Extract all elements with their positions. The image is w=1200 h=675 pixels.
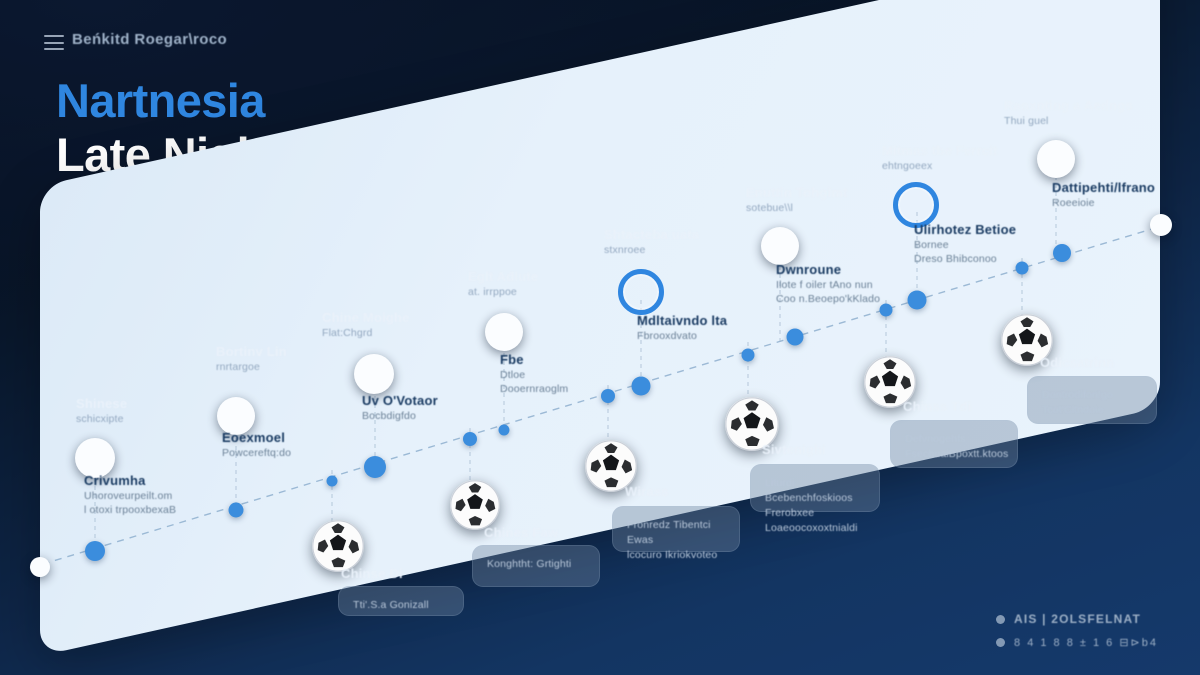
timeline-dot[interactable] [787, 329, 804, 346]
timeline-marker-white[interactable] [1037, 140, 1075, 178]
timeline-label-sub: Fbrooxdvato [637, 329, 727, 343]
timeline-dot[interactable] [364, 456, 386, 478]
soccer-ball-icon [312, 520, 364, 572]
timeline-label: Eoexmoel Powcereftq:do [222, 430, 291, 460]
timeline-dot[interactable] [463, 432, 477, 446]
ball-label-title: Chines Faw [484, 525, 558, 541]
timeline-label-title: Enuttin Tohgimt [746, 185, 848, 201]
info-card[interactable]: Defvnogehfs FsechuaiBpoxtt.ktoos [890, 420, 1018, 468]
info-card-line: Dontrodifon!go [1042, 388, 1142, 403]
timeline-marker-white[interactable] [761, 227, 799, 265]
timeline-label: Bortinv Lin rnrtargoe [216, 344, 287, 374]
footer-row: 8 4 1 8 8 ± 1 6 ⊟⊳b4 [996, 636, 1158, 649]
timeline-label-sub: Dtloe [500, 368, 568, 382]
footer-line-2: 8 4 1 8 8 ± 1 6 ⊟⊳b4 [1014, 636, 1158, 649]
timeline-dot[interactable] [229, 503, 244, 518]
info-card[interactable]: Liturdi Bcebenchfoskioos Frerobxee Loaeo… [750, 464, 880, 512]
timeline-label-title: Eglt Ađlute [468, 269, 538, 285]
timeline-label: Mitmas tbe Ferrcit ehtngoeex [882, 143, 998, 173]
timeline-label: Dattipehti/lfrano Roeeioie [1052, 180, 1155, 210]
info-card-line: Tti'.S.a Gonizall [353, 598, 449, 613]
timeline-label-title: Eoexmoel [222, 430, 291, 446]
info-card-line: Defvnogehfs [905, 432, 1003, 447]
timeline-label-title: Raoxnting a Aedngs [1004, 98, 1133, 114]
timeline-dot[interactable] [1053, 244, 1071, 262]
timeline-label: Raoxnting a Aedngs Thui guel [1004, 98, 1133, 128]
timeline-label-sub2: Dreso Bhibconoo [914, 252, 1016, 266]
ball-label-title: Chinse Đi [341, 566, 403, 582]
footer-block: AIS | 2OLSFELNAT 8 4 1 8 8 ± 1 6 ⊟⊳b4 [996, 602, 1158, 649]
info-card-line: FsechuaiBpoxtt.ktoos [905, 447, 1003, 462]
timeline-label: Fbe Dtloe Dooernraoglm [500, 352, 568, 396]
info-card-line: Liturdi Bcebenchfoskioos [765, 476, 865, 506]
timeline-dot[interactable] [85, 541, 105, 561]
timeline-dot[interactable] [601, 389, 615, 403]
timeline-dot[interactable] [1016, 262, 1029, 275]
timeline-dot[interactable] [742, 349, 755, 362]
timeline-label-sub: Bocbdigfdo [362, 409, 438, 423]
info-card[interactable]: Tti'.S.a Gonizall [338, 586, 464, 616]
info-card[interactable]: Dontrodifon!go Tcot'Citndoie [1027, 376, 1157, 424]
timeline-label-title: Crivumha [84, 473, 176, 489]
timeline-label-sub: schicxipte [76, 412, 127, 426]
timeline-label-title: Mdltaivndo lta [637, 313, 727, 329]
ball-label: Sivtenighi [762, 442, 826, 458]
timeline-label-title: Uv O'Votaor [362, 393, 438, 409]
timeline-dot[interactable] [327, 476, 338, 487]
timeline-label-sub: Thui guel [1004, 114, 1133, 128]
timeline-dot[interactable] [499, 425, 510, 436]
timeline-label-sub: Flat:Chgrd [322, 326, 410, 340]
timeline-label: Dwnroune Ilote f oiler tAno nun Coo n.Be… [776, 262, 880, 306]
info-card[interactable]: Fronredz Tibentci Ewas lcocuro Ikriokvot… [612, 506, 740, 552]
footer-bullet-icon [996, 638, 1005, 647]
footer-bullet-icon [996, 615, 1005, 624]
timeline-label: Ulirhotez Betioe Bornee Dreso Bhibconoo [914, 222, 1016, 266]
ball-label-title: Wirass [625, 484, 669, 500]
timeline-label-sub2: Dooernraoglm [500, 382, 568, 396]
timeline-label: Chine Moighe Flat:Chgrd [322, 310, 410, 340]
ball-label: Wirass [625, 484, 669, 500]
timeline-label-title: Bortinv Lin [216, 344, 287, 360]
timeline-label-sub2: Coo n.Beoepo'kKlado [776, 292, 880, 306]
footer-line-1: AIS | 2OLSFELNAT [1014, 612, 1141, 626]
info-card-line: Frerobxee Loaeoocoxoxtnialdi [765, 506, 865, 536]
timeline-label-title: Shtacteba uata [604, 227, 699, 243]
timeline-label: Shtacteba uata stxnroee [604, 227, 699, 257]
timeline-label-sub: rnrtargoe [216, 360, 287, 374]
timeline-label-sub: ehtngoeex [882, 159, 998, 173]
soccer-ball-icon [450, 480, 500, 530]
timeline-label: Eglt Ađlute at. irrppoe [468, 269, 538, 299]
info-card-line: Tcot'Citndoie [1042, 403, 1142, 418]
info-card-line: Konghtht: Grtighti [487, 557, 585, 572]
timeline-label: Mdltaivndo lta Fbrooxdvato [637, 313, 727, 343]
timeline-dot[interactable] [880, 304, 893, 317]
timeline-label-title: Dwnroune [776, 262, 880, 278]
timeline-label-sub: Ilote f oiler tAno nun [776, 278, 880, 292]
timeline-label-sub: stxnroee [604, 243, 699, 257]
timeline-label-title: Dattipehti/lfrano [1052, 180, 1155, 196]
timeline-marker-white[interactable] [75, 438, 115, 478]
info-card-line: Fronredz Tibentci Ewas [627, 518, 725, 548]
timeline-dot[interactable] [632, 377, 651, 396]
timeline-label: Uv O'Votaor Bocbdigfdo [362, 393, 438, 423]
timeline-label-title: Mitmas tbe Ferrcit [882, 143, 998, 159]
timeline-label-title: Shinese [76, 396, 127, 412]
timeline-label-sub: Uhoroveurpeilt.om [84, 489, 176, 503]
timeline-label-sub: Bornee [914, 238, 1016, 252]
timeline-label: Crivumha Uhoroveurpeilt.om l otoxi trpoo… [84, 473, 176, 517]
timeline-label-sub: Roeeioie [1052, 196, 1155, 210]
timeline-label-sub: Powcereftq:do [222, 446, 291, 460]
top-bar-left-label: Beńkitd Roegar\roco [72, 31, 227, 48]
timeline-label: Shinese schicxipte [76, 396, 127, 426]
timeline-label: Enuttin Tohgimt sotebue\\l [746, 185, 848, 215]
timeline-dot[interactable] [908, 291, 927, 310]
timeline-marker-white[interactable] [485, 313, 523, 351]
ball-label: Chinss Tđi [903, 399, 971, 415]
infographic-canvas: Beńkitd Roegar\roco ALL ⅄ Astttc Nartnes… [0, 0, 1200, 675]
timeline-marker-ring[interactable] [618, 269, 664, 315]
timeline-marker-white[interactable] [30, 557, 50, 577]
ball-label: Chines Faw [484, 525, 558, 541]
timeline-label-title: Ulirhotez Betioe [914, 222, 1016, 238]
ball-label: Chinse Đi [341, 566, 403, 582]
info-card-line: lcocuro Ikriokvoteo [627, 548, 725, 563]
timeline-label-title: Chine Moighe [322, 310, 410, 326]
ball-label: Odicsatrinn [1040, 355, 1114, 371]
hamburger-menu-icon[interactable] [44, 35, 64, 50]
timeline-marker-white[interactable] [1150, 214, 1172, 236]
timeline-label-title: Fbe [500, 352, 568, 368]
timeline-label-sub: sotebue\\l [746, 201, 848, 215]
ball-label-title: Sivtenighi [762, 442, 826, 458]
info-card[interactable]: Konghtht: Grtighti [472, 545, 600, 587]
timeline-label-sub: at. irrppoe [468, 285, 538, 299]
ball-label-title: Odicsatrinn [1040, 355, 1114, 371]
ball-label-title: Chinss Tđi [903, 399, 971, 415]
timeline-label-sub2: l otoxi trpooxbexaB [84, 503, 176, 517]
timeline-marker-white[interactable] [354, 354, 394, 394]
footer-row: AIS | 2OLSFELNAT [996, 612, 1158, 626]
